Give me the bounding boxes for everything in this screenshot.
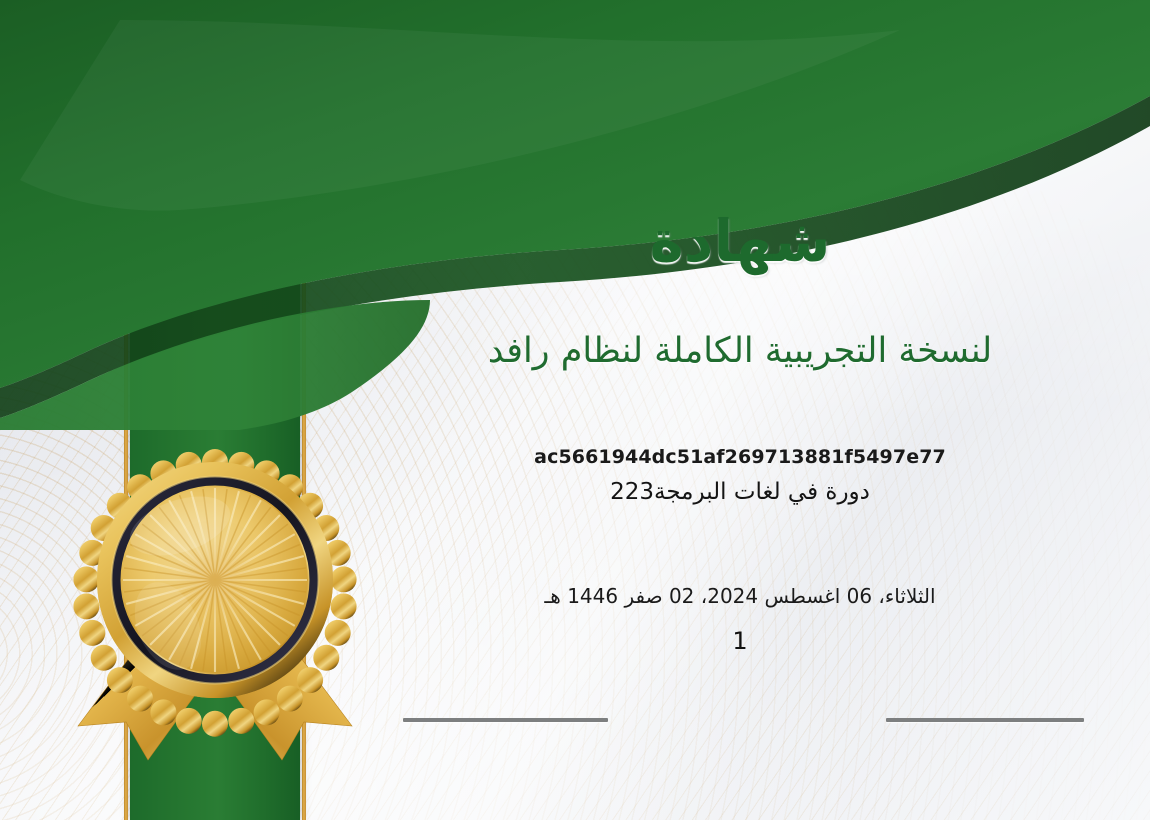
signature-line-left: [403, 718, 608, 722]
certificate-content: شهادة لنسخة التجريبية الكاملة لنظام رافد…: [330, 0, 1150, 820]
signature-line-right: [886, 718, 1084, 722]
certificate-date: الثلاثاء، 06 اغسطس 2024، 02 صفر 1446 هـ: [330, 584, 1150, 608]
certificate-number: 1: [330, 627, 1150, 655]
course-name: دورة في لغات البرمجة223: [330, 479, 1150, 505]
certificate-hash-code: ac5661944dc51af269713881f5497e77: [330, 446, 1150, 468]
certificate-page: شهادة لنسخة التجريبية الكاملة لنظام رافد…: [0, 0, 1150, 820]
page-title: شهادة: [330, 212, 1150, 270]
certificate-subtitle: لنسخة التجريبية الكاملة لنظام رافد: [330, 330, 1150, 374]
